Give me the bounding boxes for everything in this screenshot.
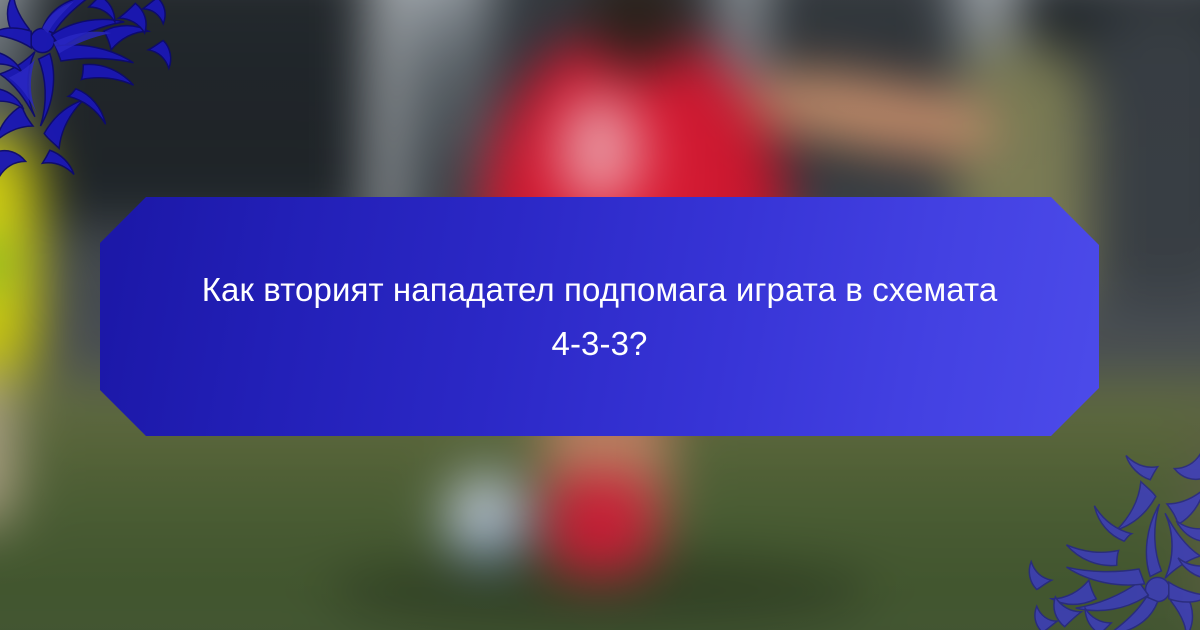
headline-banner: Как вторият нападател подпомага играта в… <box>100 197 1099 436</box>
page-title: Как вторият нападател подпомага играта в… <box>190 263 1010 370</box>
social-card: Как вторият нападател подпомага играта в… <box>0 0 1200 630</box>
